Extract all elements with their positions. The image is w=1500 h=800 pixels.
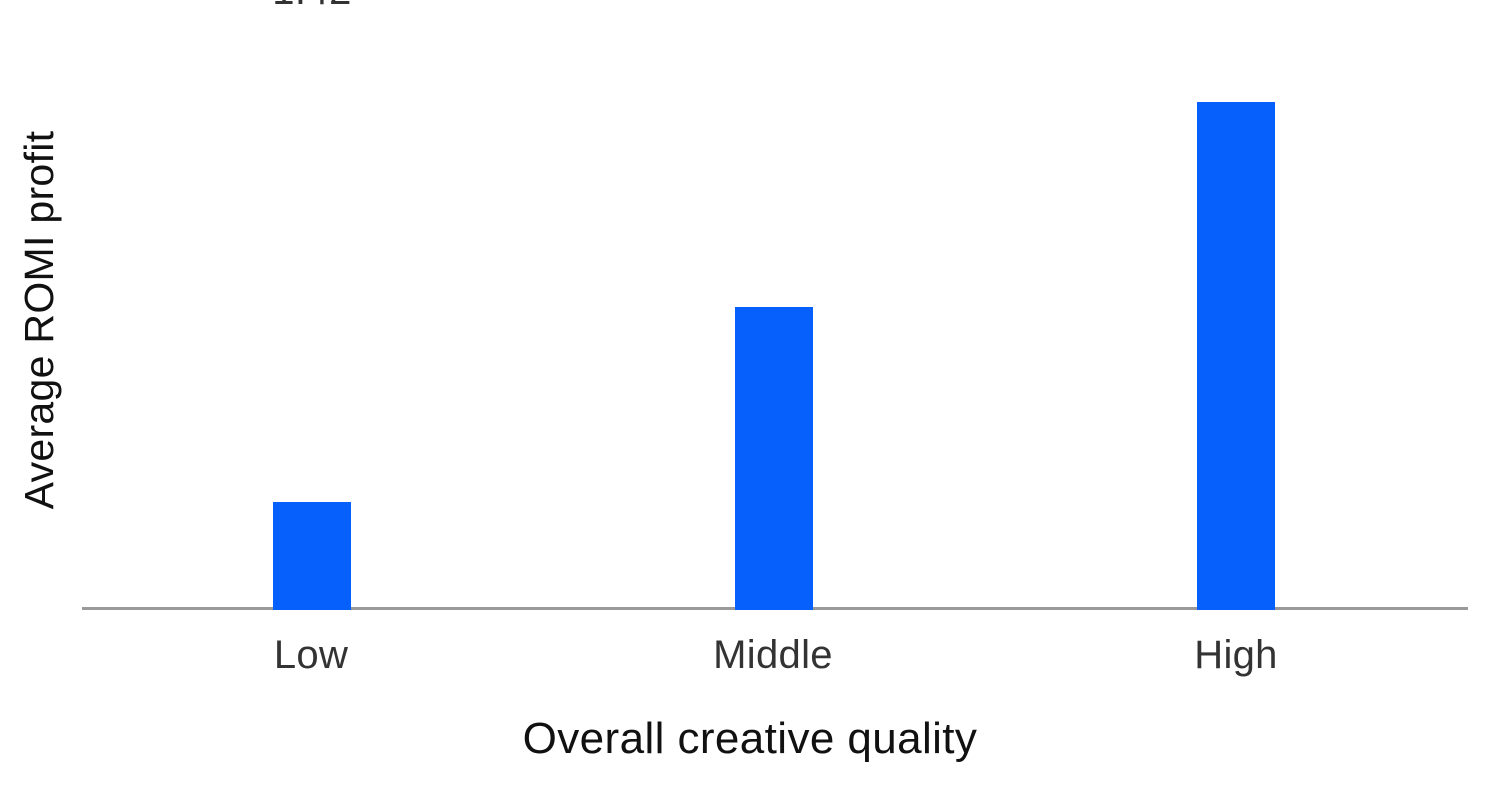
plot-area: 1.42 3.96 6.62 (82, 20, 1468, 610)
x-axis-title: Overall creative quality (0, 714, 1500, 764)
bar-chart: Average ROMI profit 1.42 3.96 6.62 Low M… (0, 0, 1500, 800)
x-tick-label-high: High (1194, 633, 1277, 678)
bar-group-high: 6.62 (1197, 20, 1275, 610)
bar-low[interactable] (273, 502, 351, 610)
x-tick-label-middle: Middle (713, 633, 833, 678)
y-axis-title: Average ROMI profit (0, 0, 78, 640)
bar-group-middle: 3.96 (735, 20, 813, 610)
bar-value-low: 1.42 (272, 0, 351, 14)
bar-middle[interactable] (735, 307, 813, 610)
bar-high[interactable] (1197, 102, 1275, 610)
bar-group-low: 1.42 (273, 20, 351, 610)
x-tick-label-low: Low (274, 633, 348, 678)
